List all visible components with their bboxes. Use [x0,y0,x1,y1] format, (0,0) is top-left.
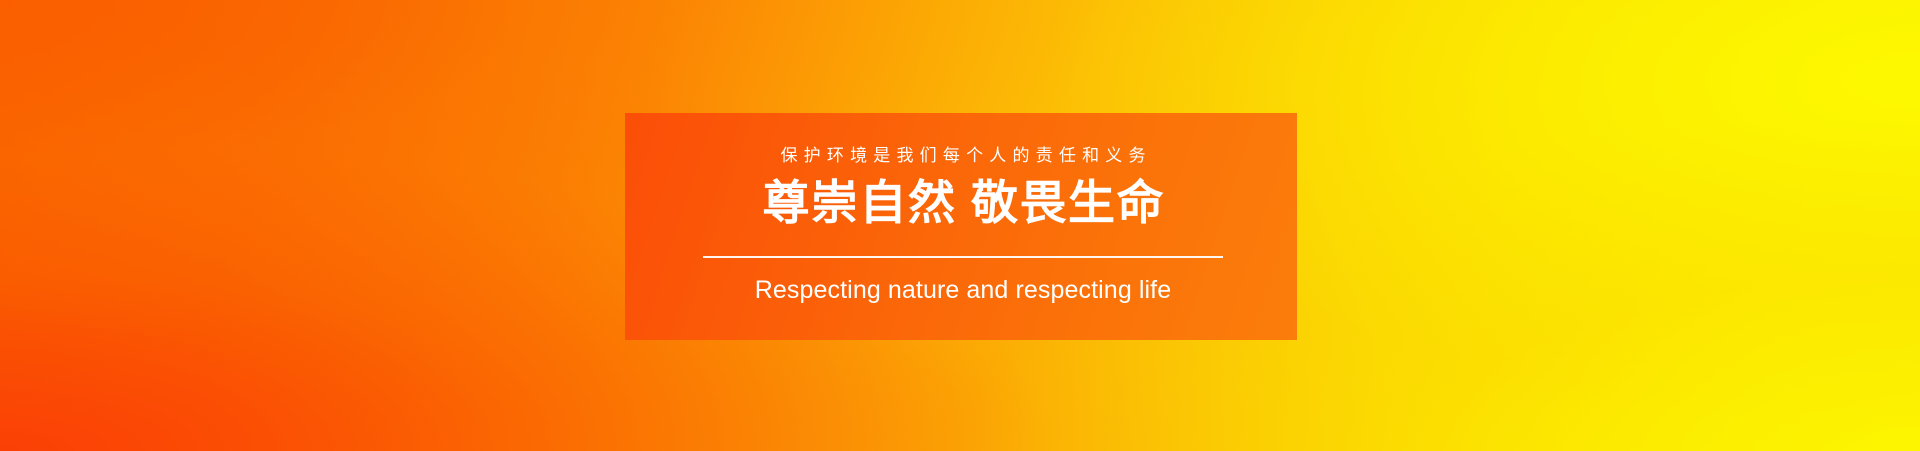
slogan-subtitle-english: Respecting nature and respecting life [703,271,1223,309]
slogan-content: 保护环境是我们每个人的责任和义务 尊崇自然 敬畏生命 Respecting na… [703,113,1223,340]
slogan-kicker-chinese: 保护环境是我们每个人的责任和义务 [703,145,1223,167]
environmental-banner: 保护环境是我们每个人的责任和义务 尊崇自然 敬畏生命 Respecting na… [0,0,1920,451]
slogan-panel: 保护环境是我们每个人的责任和义务 尊崇自然 敬畏生命 Respecting na… [625,113,1297,340]
slogan-divider-rule [703,256,1223,258]
slogan-headline-chinese: 尊崇自然 敬畏生命 [703,171,1223,235]
